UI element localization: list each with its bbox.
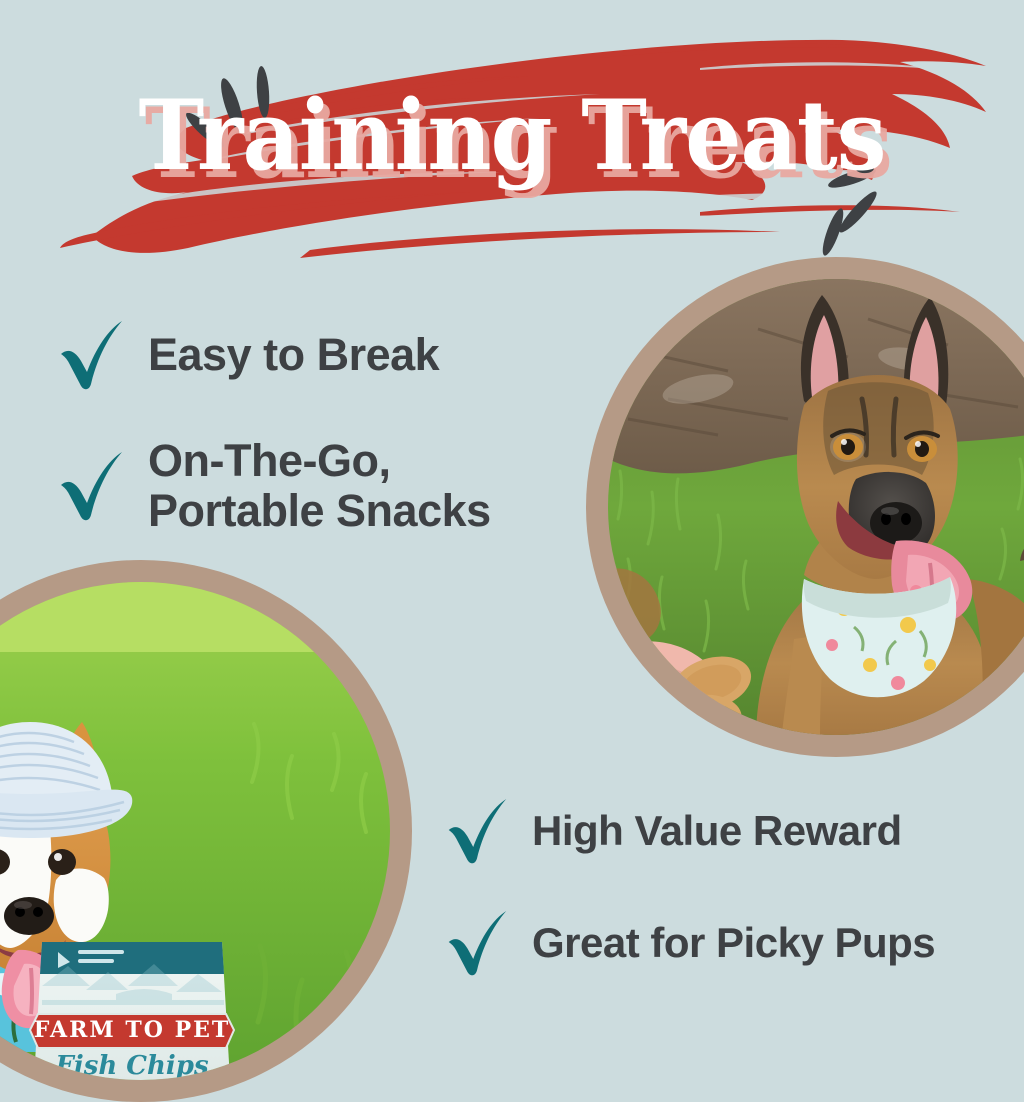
malinois-dog-image bbox=[608, 279, 1024, 735]
feature-label: High Value Reward bbox=[532, 807, 902, 854]
feature-on-the-go: On-The-Go, Portable Snacks bbox=[56, 436, 491, 537]
checkmark-icon bbox=[444, 796, 510, 866]
feature-label: Easy to Break bbox=[148, 330, 439, 380]
feature-label: On-The-Go, Portable Snacks bbox=[148, 436, 491, 537]
feature-great-for-picky-pups: Great for Picky Pups bbox=[444, 908, 935, 978]
product-package: FARM TO PET Fish Chips bbox=[30, 942, 234, 1080]
checkmark-icon bbox=[56, 449, 126, 523]
malinois-dog-photo bbox=[586, 257, 1024, 757]
corgi-with-product-photo: FARM TO PET Fish Chips bbox=[0, 560, 412, 1102]
corgi-product-image: FARM TO PET Fish Chips bbox=[0, 582, 390, 1080]
package-brand-text: FARM TO PET bbox=[34, 1017, 231, 1043]
checkmark-icon bbox=[56, 318, 126, 392]
feature-high-value-reward: High Value Reward bbox=[444, 796, 902, 866]
feature-easy-to-break: Easy to Break bbox=[56, 318, 439, 392]
package-product-name-text: Fish Chips bbox=[54, 1051, 209, 1080]
poster-canvas: Training Treats bbox=[0, 0, 1024, 1024]
title-brush-banner bbox=[0, 0, 1024, 270]
feature-label: Great for Picky Pups bbox=[532, 919, 935, 966]
checkmark-icon bbox=[444, 908, 510, 978]
